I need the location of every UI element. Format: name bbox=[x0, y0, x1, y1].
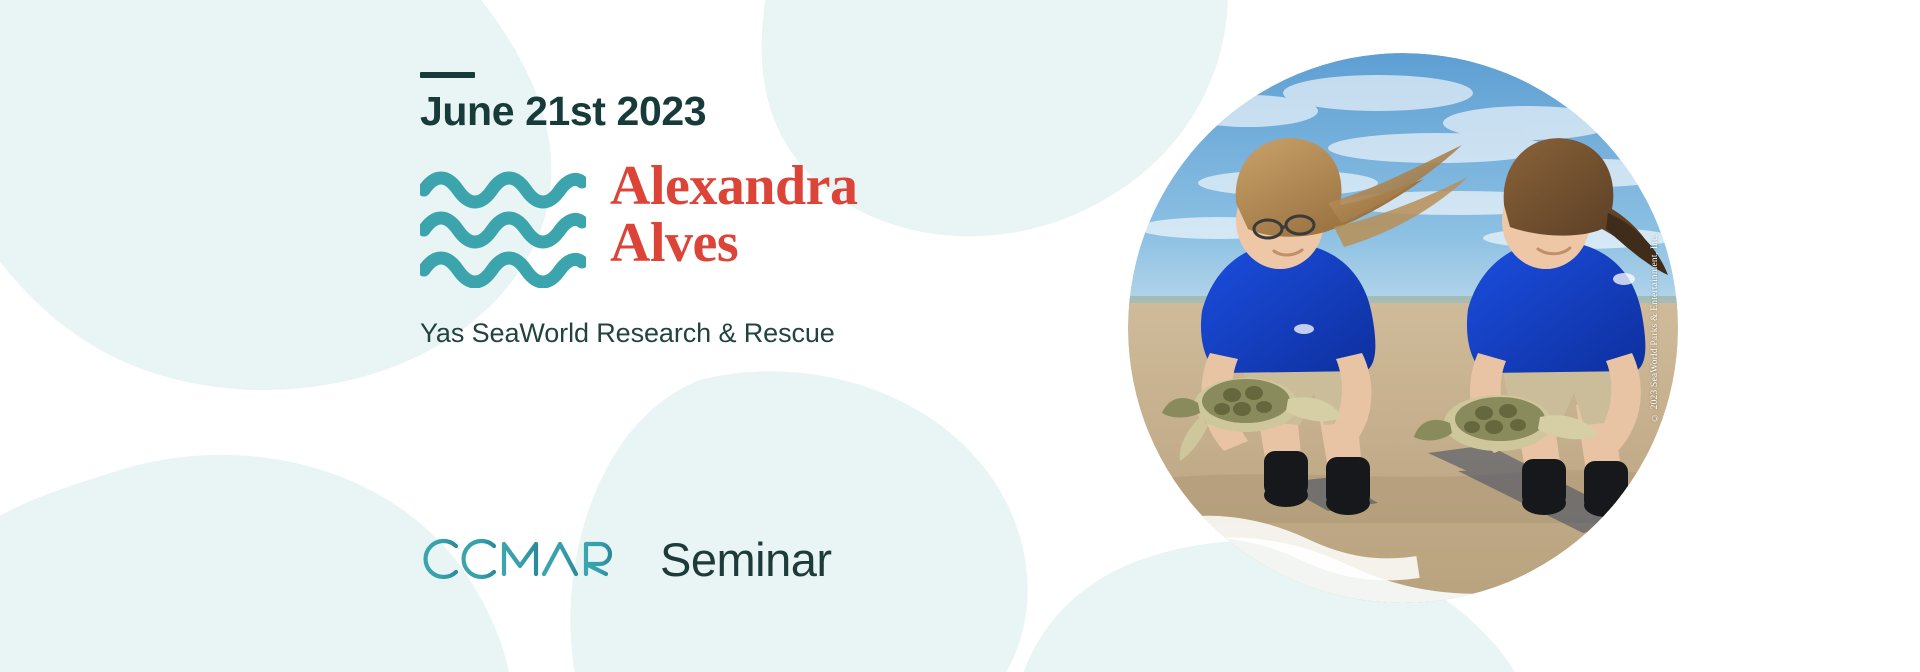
speaker-last-name: Alves bbox=[610, 215, 858, 272]
event-date: June 21st 2023 bbox=[420, 88, 706, 135]
speaker-name: Alexandra Alves bbox=[610, 158, 858, 272]
speaker-block: Alexandra Alves bbox=[420, 158, 858, 288]
speaker-affiliation: Yas SeaWorld Research & Rescue bbox=[420, 318, 835, 349]
seminar-label: Seminar bbox=[660, 536, 832, 583]
turtle-release-photo-illustration bbox=[1128, 53, 1678, 603]
seminar-announcement-banner: June 21st 2023 Alexandra Alves Yas SeaWo… bbox=[0, 0, 1920, 672]
ccmar-logo bbox=[420, 534, 642, 584]
banner-content-column: June 21st 2023 Alexandra Alves Yas SeaWo… bbox=[420, 0, 1200, 672]
ccmar-seminar-lockup: Seminar bbox=[420, 534, 832, 584]
triple-wave-icon bbox=[420, 168, 586, 288]
photo-credit: © 2023 SeaWorld Parks & Entertainment, I… bbox=[1650, 234, 1660, 422]
speaker-first-name: Alexandra bbox=[610, 158, 858, 215]
accent-rule bbox=[420, 72, 475, 78]
speaker-photo: © 2023 SeaWorld Parks & Entertainment, I… bbox=[1128, 53, 1678, 603]
